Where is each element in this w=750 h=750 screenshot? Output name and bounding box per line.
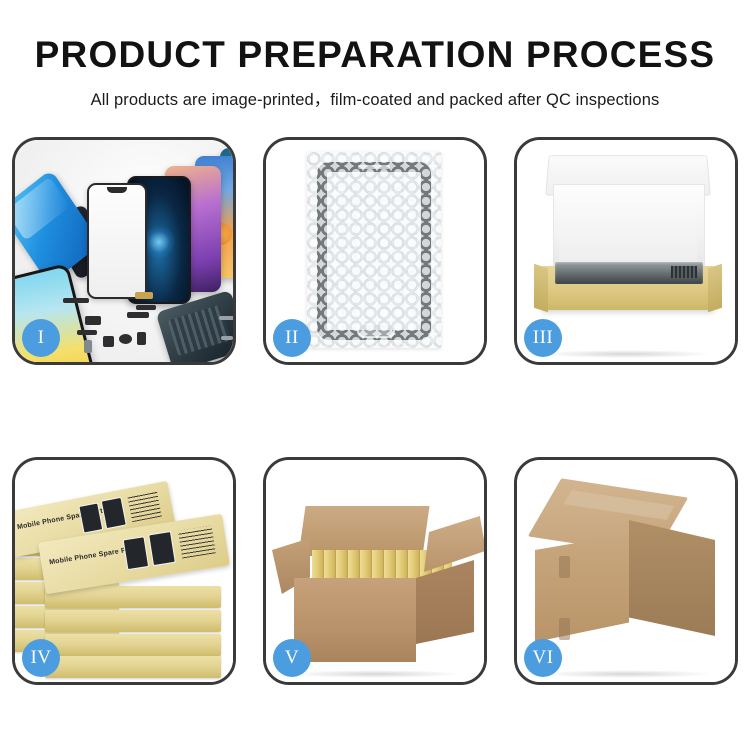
spare-part bbox=[119, 334, 132, 344]
step-badge-4: IV bbox=[22, 639, 60, 677]
process-step-panel-4[interactable]: Mobile Phone Spare Parts Mobile Phone Sp… bbox=[12, 457, 236, 685]
process-step-panel-5[interactable]: V bbox=[263, 457, 487, 685]
carton-seam-mark bbox=[559, 618, 570, 640]
phone-screen-assembly bbox=[317, 162, 431, 340]
spare-part bbox=[63, 298, 89, 303]
spare-part bbox=[135, 292, 153, 299]
page-subtitle: All products are image-printed，film-coat… bbox=[0, 75, 750, 110]
kraft-box-slab bbox=[45, 610, 221, 632]
process-step-grid: I II III bbox=[12, 137, 738, 685]
drop-shadow bbox=[539, 670, 713, 678]
spare-part bbox=[85, 316, 101, 325]
carton-side-face bbox=[629, 520, 715, 636]
drop-shadow bbox=[288, 670, 462, 678]
bubble-wrap-sheet bbox=[307, 152, 441, 348]
carton-flap-back bbox=[298, 506, 429, 556]
kraft-box-slab bbox=[45, 634, 221, 656]
box-product-thumbnail bbox=[123, 536, 150, 570]
process-step-panel-3[interactable]: III bbox=[514, 137, 738, 365]
kraft-box-slab bbox=[45, 656, 221, 678]
foam-insert bbox=[559, 202, 697, 268]
spare-part bbox=[137, 332, 146, 345]
spare-part bbox=[136, 305, 156, 310]
process-step-panel-1[interactable]: I bbox=[12, 137, 236, 365]
front-glass-panel bbox=[87, 183, 147, 299]
process-step-panel-2[interactable]: II bbox=[263, 137, 487, 365]
home-button-cutout bbox=[357, 323, 395, 338]
step-badge-1: I bbox=[22, 319, 60, 357]
box-spec-lines bbox=[178, 526, 216, 559]
carton-seam-mark bbox=[559, 556, 570, 578]
spare-part bbox=[77, 330, 97, 335]
spare-part bbox=[219, 316, 233, 320]
step-badge-3: III bbox=[524, 319, 562, 357]
spare-part bbox=[221, 336, 233, 340]
drop-shadow bbox=[539, 350, 713, 358]
spare-part bbox=[84, 340, 92, 353]
spare-part bbox=[103, 336, 114, 347]
box-product-thumbnail bbox=[148, 531, 176, 566]
process-step-panel-6[interactable]: VI bbox=[514, 457, 738, 685]
spare-part bbox=[127, 312, 149, 318]
earpiece-slot bbox=[358, 165, 390, 169]
step-badge-2: II bbox=[273, 319, 311, 357]
step-badge-6: VI bbox=[524, 639, 562, 677]
header: PRODUCT PREPARATION PROCESS All products… bbox=[0, 0, 750, 110]
box-product-thumbnail bbox=[101, 497, 127, 529]
box-spec-lines bbox=[127, 491, 161, 522]
step-badge-5: V bbox=[273, 639, 311, 677]
page-title: PRODUCT PREPARATION PROCESS bbox=[0, 0, 750, 75]
phone-screen-in-box bbox=[555, 262, 703, 284]
carton-front-face bbox=[294, 578, 416, 662]
